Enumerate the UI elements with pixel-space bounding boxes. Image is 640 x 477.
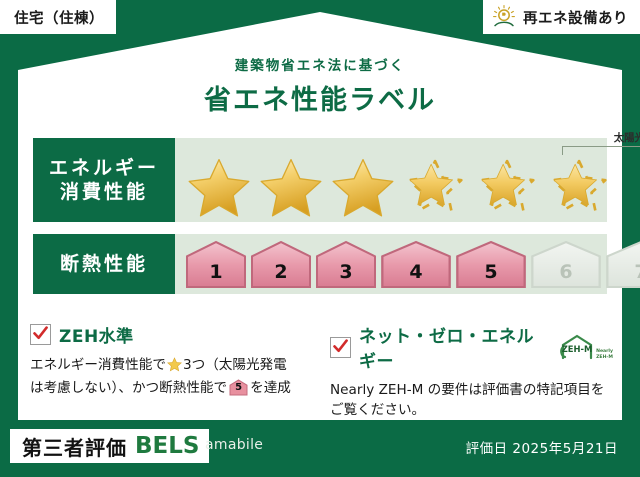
zeh-standard-checkbox[interactable] (30, 324, 51, 345)
insulation-level-1: 1 (185, 240, 247, 289)
zeh-m-logo-sub: Nearly ZEH-M (596, 349, 613, 360)
insulation-performance-row: 断熱性能 1234567 (33, 234, 607, 294)
zeh-standard-header: ZEH水準 (30, 322, 313, 347)
inline-house-number: 5 (229, 379, 248, 396)
star-solar (399, 154, 471, 220)
zeh-m-sub-line2: ZEH-M (596, 355, 613, 360)
zeh-body-star-count: 3つ（太陽光発電 (183, 357, 287, 373)
net-zero-energy-title: ネット・ゼロ・エネルギー (359, 322, 548, 372)
zeh-m-logo: ZEH-M Nearly ZEH-M (560, 334, 613, 360)
insulation-level-6: 6 (530, 240, 602, 289)
zeh-standard-body: エネルギー消費性能で 3つ（太陽光発電 は考慮しない）、かつ断熱性能で 5 を達… (30, 355, 313, 399)
insulation-level-2: 2 (250, 240, 312, 289)
third-party-evaluation-tag: 第三者評価 BELS (10, 429, 209, 463)
star-solar (471, 154, 543, 220)
renewable-energy-label: 再エネ設備あり (523, 7, 628, 28)
solar-annotation-label: 太陽光発電(自家消費)分 (557, 130, 640, 145)
insulation-level-7: 7 (605, 240, 640, 289)
energy-performance-body: 太陽光発電(自家消費)分 (175, 138, 607, 222)
insulation-level-number: 1 (209, 261, 222, 283)
zeh-body-part2: は考慮しない）、かつ断熱性能で (30, 380, 227, 396)
page-title: 建築物省エネ法に基づく 省エネ性能ラベル (0, 54, 640, 117)
insulation-performance-caption: 断熱性能 (33, 234, 175, 294)
zeh-m-sub-line1: Nearly (596, 349, 613, 354)
energy-performance-caption: エネルギー 消費性能 (33, 138, 175, 222)
insulation-level-number: 5 (484, 261, 497, 283)
star-filled (327, 154, 399, 220)
inline-star-icon (167, 357, 182, 378)
star-rating (183, 154, 603, 220)
solar-annotation: 太陽光発電(自家消費)分 (557, 130, 640, 145)
insulation-level-scale: 1234567 (185, 240, 601, 289)
insulation-level-number: 4 (409, 261, 422, 283)
energy-caption-line2: 消費性能 (60, 180, 148, 204)
watermark: amabile (205, 437, 263, 453)
zeh-standard-block: ZEH水準 エネルギー消費性能で 3つ（太陽光発電 は考慮しない）、かつ断熱性能… (30, 322, 313, 399)
net-zero-energy-checkbox[interactable] (330, 337, 351, 358)
zeh-body-part3: を達成 (250, 380, 291, 396)
insulation-level-5: 5 (455, 240, 527, 289)
energy-caption-line1: エネルギー (49, 156, 159, 180)
insulation-caption-label: 断熱性能 (60, 252, 148, 276)
zeh-m-house-icon: ZEH-M (560, 334, 594, 360)
renewable-energy-tag: 再エネ設備あり (483, 0, 640, 34)
insulation-level-4: 4 (380, 240, 452, 289)
star-filled (255, 154, 327, 220)
energy-performance-row: エネルギー 消費性能 太陽光発電(自家消費)分 (33, 138, 607, 222)
star-filled (183, 154, 255, 220)
insulation-performance-body: 1234567 (175, 234, 607, 294)
insulation-level-3: 3 (315, 240, 377, 289)
net-zero-energy-header: ネット・ゼロ・エネルギー ZEH-M Nearly ZEH-M (330, 322, 613, 372)
insulation-level-number: 7 (634, 261, 640, 283)
svg-text:ZEH-M: ZEH-M (562, 344, 593, 354)
star-solar (543, 154, 615, 220)
check-icon (32, 325, 49, 342)
insulation-level-number: 3 (339, 261, 352, 283)
zeh-standard-title: ZEH水準 (59, 322, 134, 347)
net-zero-energy-block: ネット・ゼロ・エネルギー ZEH-M Nearly ZEH-M Nearly Z… (330, 322, 613, 421)
evaluation-date: 評価日 2025年5月21日 (466, 437, 618, 457)
insulation-level-number: 2 (274, 261, 287, 283)
inline-house-icon: 5 (229, 379, 248, 396)
zeh-body-part1: エネルギー消費性能で (30, 357, 166, 373)
check-icon (332, 338, 349, 355)
solar-sun-icon (491, 4, 517, 30)
third-party-label: 第三者評価 (22, 432, 127, 461)
bels-label: BELS (135, 433, 199, 459)
title-subtitle: 建築物省エネ法に基づく (0, 54, 640, 74)
building-type-label: 住宅（住棟） (14, 7, 104, 28)
building-type-tag: 住宅（住棟） (0, 0, 116, 34)
insulation-level-number: 6 (559, 261, 572, 283)
title-main: 省エネ性能ラベル (0, 78, 640, 117)
bels-energy-label: 住宅（住棟） 再エネ設備あり 建築物省エネ法に基づく 省エネ性能ラベル エネル (0, 0, 640, 477)
net-zero-energy-body: Nearly ZEH-M の要件は評価書の特記項目をご覧ください。 (330, 380, 613, 421)
